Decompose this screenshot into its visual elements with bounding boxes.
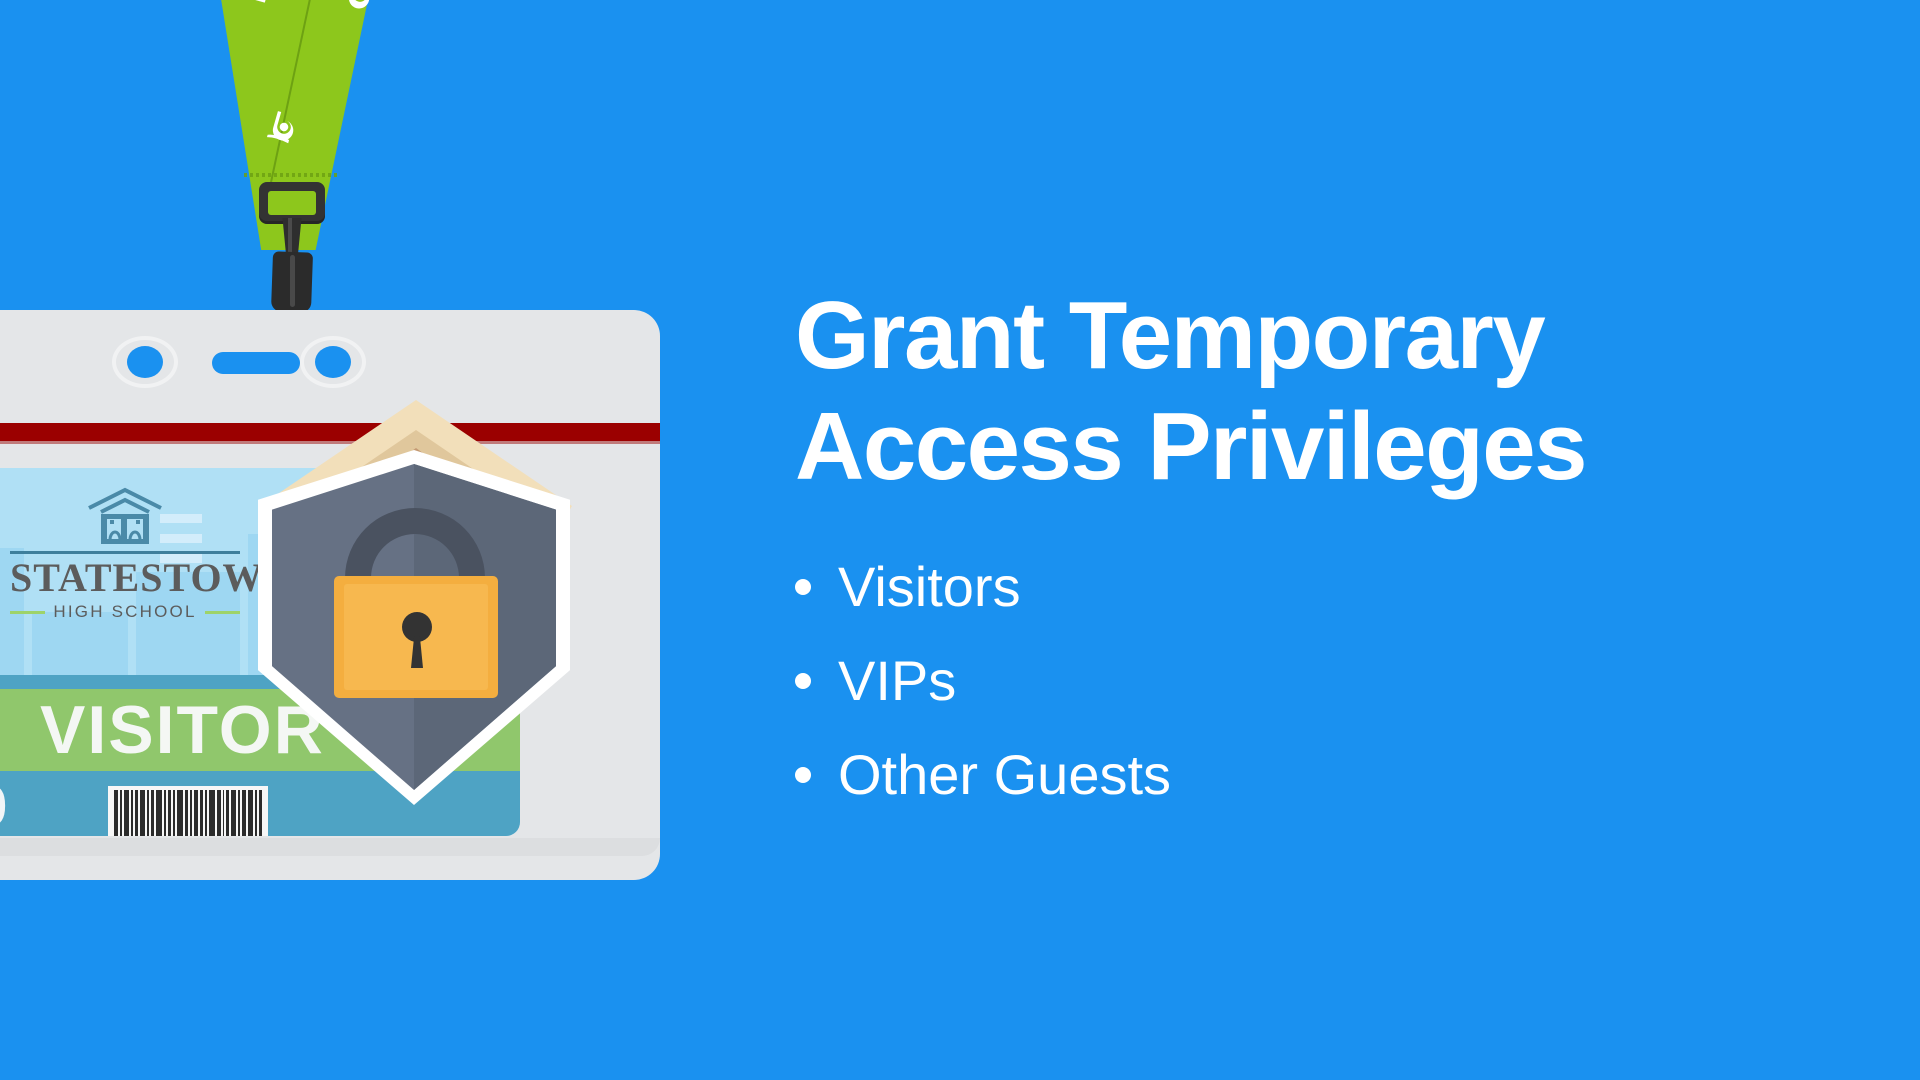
lanyard-clip-bar bbox=[259, 182, 325, 224]
list-item-label: Visitors bbox=[838, 559, 1021, 615]
list-item-label: Other Guests bbox=[838, 747, 1171, 803]
list-item-label: VIPs bbox=[838, 653, 956, 709]
security-emblem bbox=[250, 388, 590, 818]
bullet-icon bbox=[795, 579, 811, 595]
list-item: VIPs bbox=[795, 653, 1795, 709]
school-name: STATESTOWN bbox=[10, 557, 240, 599]
bullet-icon bbox=[795, 767, 811, 783]
school-subtitle-row: HIGH SCHOOL bbox=[10, 602, 240, 622]
page-title-line-2: Access Privileges bbox=[795, 393, 1586, 500]
school-building-icon bbox=[79, 486, 171, 548]
slide-canvas: BADGEPASS BADGEPASS bbox=[0, 0, 1920, 1080]
badge-slot-hole-right bbox=[315, 346, 351, 378]
feature-list: Visitors VIPs Other Guests bbox=[795, 559, 1795, 803]
lanyard: BADGEPASS BADGEPASS bbox=[210, 0, 370, 270]
badge-holder-bottom-edge bbox=[0, 838, 660, 856]
page-title: Grant Temporary Access Privileges bbox=[795, 280, 1795, 503]
school-logo: STATESTOWN HIGH SCHOOL bbox=[10, 486, 240, 622]
badge-slot-center bbox=[212, 352, 300, 374]
list-item: Visitors bbox=[795, 559, 1795, 615]
badge-slot-hole-left bbox=[127, 346, 163, 378]
lanyard-clip-tab-highlight bbox=[290, 255, 295, 307]
lanyard-clip-opening bbox=[268, 191, 316, 215]
school-subtitle-rule-right bbox=[205, 611, 240, 614]
lanyard-stitching bbox=[244, 173, 339, 177]
card-number: 200 bbox=[0, 778, 8, 834]
content-panel: Grant Temporary Access Privileges Visito… bbox=[795, 280, 1795, 841]
school-subtitle-rule-left bbox=[10, 611, 45, 614]
school-logo-divider bbox=[10, 551, 240, 554]
school-subtitle: HIGH SCHOOL bbox=[53, 602, 196, 622]
barcode-icon bbox=[108, 786, 268, 836]
list-item: Other Guests bbox=[795, 747, 1795, 803]
page-title-line-1: Grant Temporary bbox=[795, 282, 1544, 389]
bullet-icon bbox=[795, 673, 811, 689]
